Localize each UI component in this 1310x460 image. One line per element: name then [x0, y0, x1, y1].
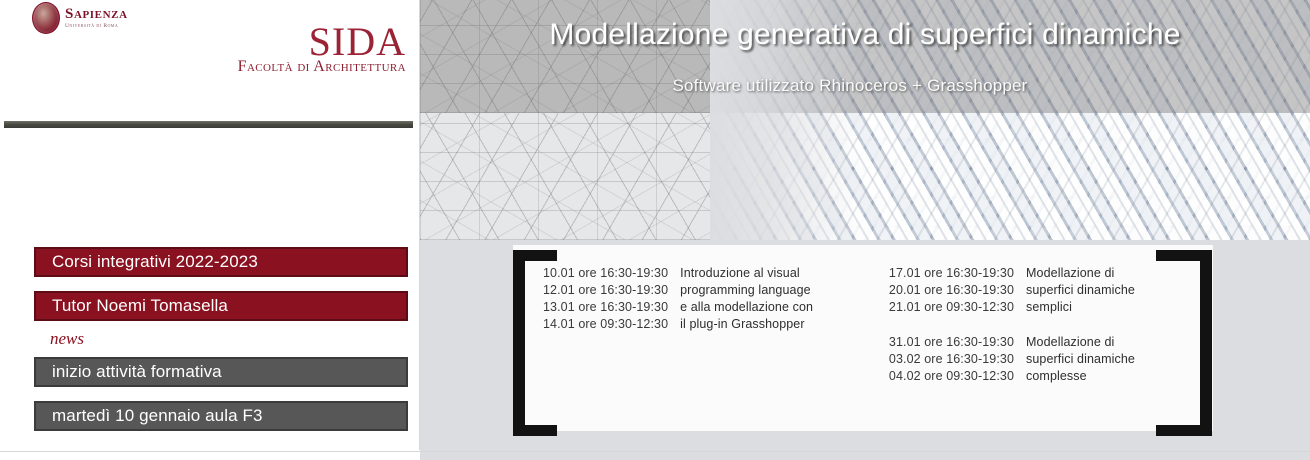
sida-logo: SIDA Facoltà di Architettura	[238, 24, 406, 76]
schedule-date: 31.01 ore 16:30-19:30	[889, 334, 1014, 351]
schedule-columns: 10.01 ore 16:30-19:30 12.01 ore 16:30-19…	[543, 259, 1203, 429]
header-divider	[4, 121, 413, 128]
schedule-desc-line: semplici	[1026, 299, 1135, 316]
schedule-desc-line: complesse	[1026, 368, 1135, 385]
schedule-desc-line: superfici dinamiche	[1026, 351, 1135, 368]
schedule-dates: 31.01 ore 16:30-19:30 03.02 ore 16:30-19…	[889, 334, 1014, 385]
news-label: news	[34, 329, 408, 349]
page-subtitle: Software utilizzato Rhinoceros + Grassho…	[420, 76, 1310, 96]
sapienza-wordmark: Sapienza Università di Roma	[65, 7, 128, 30]
schedule-date: 10.01 ore 16:30-19:30	[543, 265, 668, 282]
schedule-desc-line: Modellazione di	[1026, 334, 1135, 351]
schedule-date: 03.02 ore 16:30-19:30	[889, 351, 1014, 368]
schedule-dates: 10.01 ore 16:30-19:30 12.01 ore 16:30-19…	[543, 265, 668, 333]
sapienza-seal-icon	[32, 2, 60, 34]
branding-header: Sapienza Università di Roma SIDA Facoltà…	[0, 0, 420, 112]
schedule-desc-line: e alla modellazione con	[680, 299, 813, 316]
schedule-date: 14.01 ore 09:30-12:30	[543, 316, 668, 333]
bar-label: martedì 10 gennaio aula F3	[52, 406, 263, 426]
schedule-column-left: 10.01 ore 16:30-19:30 12.01 ore 16:30-19…	[543, 259, 867, 429]
schedule-date: 20.01 ore 16:30-19:30	[889, 282, 1014, 299]
info-bars: Corsi integrativi 2022-2023 Tutor Noemi …	[34, 247, 408, 445]
schedule-group: 17.01 ore 16:30-19:30 20.01 ore 16:30-19…	[889, 265, 1203, 316]
schedule-group: 10.01 ore 16:30-19:30 12.01 ore 16:30-19…	[543, 265, 867, 333]
schedule-column-right: 17.01 ore 16:30-19:30 20.01 ore 16:30-19…	[889, 259, 1203, 429]
sida-faculty-name: Facoltà di Architettura	[238, 58, 406, 76]
schedule-date: 13.01 ore 16:30-19:30	[543, 299, 668, 316]
bar-corsi-integrativi[interactable]: Corsi integrativi 2022-2023	[34, 247, 408, 277]
bracket-left-vertical	[513, 250, 525, 436]
schedule-date: 21.01 ore 09:30-12:30	[889, 299, 1014, 316]
sapienza-subtitle: Università di Roma	[65, 24, 128, 30]
bar-data-aula[interactable]: martedì 10 gennaio aula F3	[34, 401, 408, 431]
page-bottom-divider	[0, 451, 1310, 452]
right-panel: Modellazione generativa di superfici din…	[420, 0, 1310, 460]
bar-label: Corsi integrativi 2022-2023	[52, 252, 258, 272]
schedule-date: 12.01 ore 16:30-19:30	[543, 282, 668, 299]
schedule-group: 31.01 ore 16:30-19:30 03.02 ore 16:30-19…	[889, 334, 1203, 385]
left-panel: Sapienza Università di Roma SIDA Facoltà…	[0, 0, 420, 450]
bar-label: Tutor Noemi Tomasella	[52, 296, 228, 316]
schedule-desc-line: Introduzione al visual	[680, 265, 813, 282]
schedule-description: Modellazione di superfici dinamiche comp…	[1026, 334, 1135, 385]
schedule-desc-line: il plug-in Grasshopper	[680, 316, 813, 333]
schedule-desc-line: Modellazione di	[1026, 265, 1135, 282]
bar-inizio-attivita[interactable]: inizio attività formativa	[34, 357, 408, 387]
sida-acronym: SIDA	[238, 24, 406, 60]
page-title: Modellazione generativa di superfici din…	[420, 18, 1310, 52]
sapienza-logo: Sapienza Università di Roma	[32, 2, 128, 34]
schedule-description: Modellazione di superfici dinamiche semp…	[1026, 265, 1135, 316]
sapienza-name: Sapienza	[65, 7, 128, 22]
schedule-description: Introduzione al visual programming langu…	[680, 265, 813, 333]
slide-page: Sapienza Università di Roma SIDA Facoltà…	[0, 0, 1310, 460]
bar-label: inizio attività formativa	[52, 362, 222, 382]
bar-tutor[interactable]: Tutor Noemi Tomasella	[34, 291, 408, 321]
schedule-date: 04.02 ore 09:30-12:30	[889, 368, 1014, 385]
schedule-dates: 17.01 ore 16:30-19:30 20.01 ore 16:30-19…	[889, 265, 1014, 316]
schedule-date: 17.01 ore 16:30-19:30	[889, 265, 1014, 282]
schedule-desc-line: programming language	[680, 282, 813, 299]
schedule-box: 10.01 ore 16:30-19:30 12.01 ore 16:30-19…	[495, 245, 1230, 441]
schedule-desc-line: superfici dinamiche	[1026, 282, 1135, 299]
